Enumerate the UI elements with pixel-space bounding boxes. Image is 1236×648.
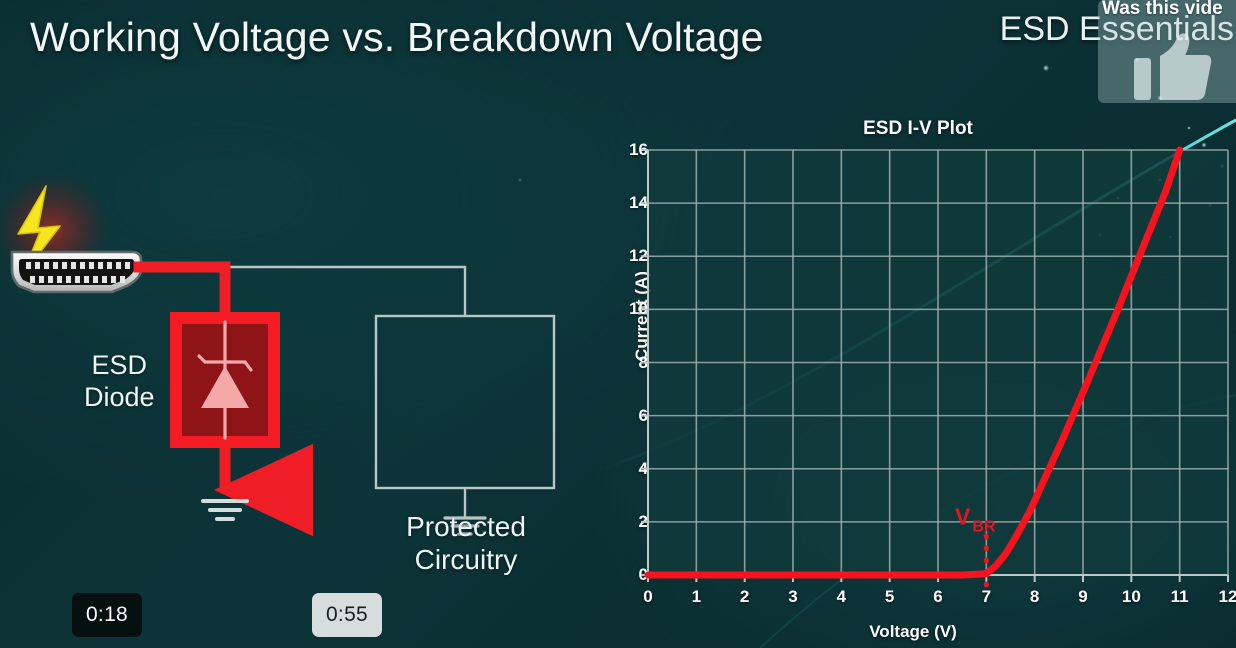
- ground-symbol-icon: [203, 501, 247, 519]
- plot-area: VBR: [600, 110, 1236, 648]
- thumbs-up-icon[interactable]: [1132, 32, 1212, 102]
- esd-diode-symbol: [176, 318, 274, 442]
- timestamp-total[interactable]: 0:55: [312, 593, 382, 637]
- timestamp-current[interactable]: 0:18: [72, 593, 142, 637]
- esd-diode-label: ESD Diode: [84, 350, 155, 414]
- vbr-subscript: BR: [972, 519, 996, 536]
- esd-iv-chart: ESD I-V Plot Current (A) Voltage (V) 024…: [600, 110, 1236, 648]
- protected-circuitry-box: [376, 316, 554, 518]
- esd-diode-label-line-1: ESD: [84, 350, 155, 382]
- vbr-symbol: V: [955, 504, 971, 530]
- hdmi-connector-icon: [12, 252, 141, 292]
- feedback-overlay-panel[interactable]: Was this vide: [1098, 0, 1236, 103]
- esd-diode-label-line-2: Diode: [84, 382, 155, 414]
- signal-wire: [225, 267, 465, 316]
- page-title: Working Voltage vs. Breakdown Voltage: [30, 14, 764, 61]
- protected-circuitry-label: Protected Circuitry: [378, 510, 554, 576]
- circuit-diagram: ESD Diode Protected Circuitry: [0, 170, 600, 570]
- feedback-prompt-text: Was this vide: [1102, 0, 1223, 20]
